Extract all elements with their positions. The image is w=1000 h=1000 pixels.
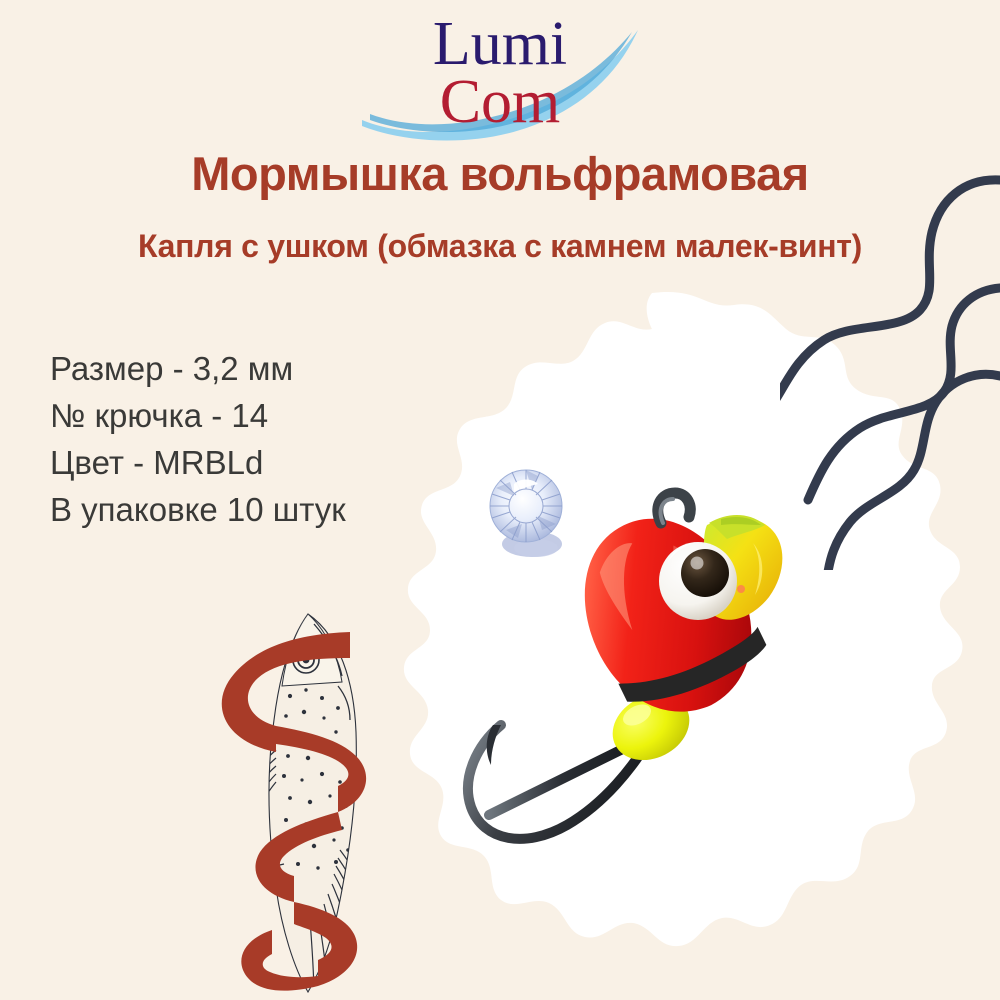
mormyshka-lure [455,485,855,885]
wire-eyelet [658,493,690,523]
specification-list: Размер - 3,2 мм № крючка - 14 Цвет - MRB… [50,345,346,533]
product-card: Lumi Com Мормышка вольфрамовая Капля с у… [0,0,1000,1000]
fish-texture [234,614,374,998]
fish-illustration [190,600,430,1000]
spec-color: Цвет - MRBLd [50,439,346,486]
body-reflection [737,585,745,593]
logo-text-com: Com [440,68,561,136]
spec-pack: В упаковке 10 штук [50,486,346,533]
lure-eye [659,542,737,620]
page-subtitle: Капля с ушком (обмазка с камнем малек-ви… [0,228,1000,265]
fish-eye-icon [293,647,319,673]
brand-logo: Lumi Com [0,2,1000,142]
fish-body [269,614,356,992]
spec-hook: № крючка - 14 [50,392,346,439]
page-title: Мормышка вольфрамовая [0,146,1000,201]
red-ribbon-decoration [222,632,366,991]
spec-size: Размер - 3,2 мм [50,345,346,392]
lumicom-logo-svg: Lumi Com [360,2,640,142]
